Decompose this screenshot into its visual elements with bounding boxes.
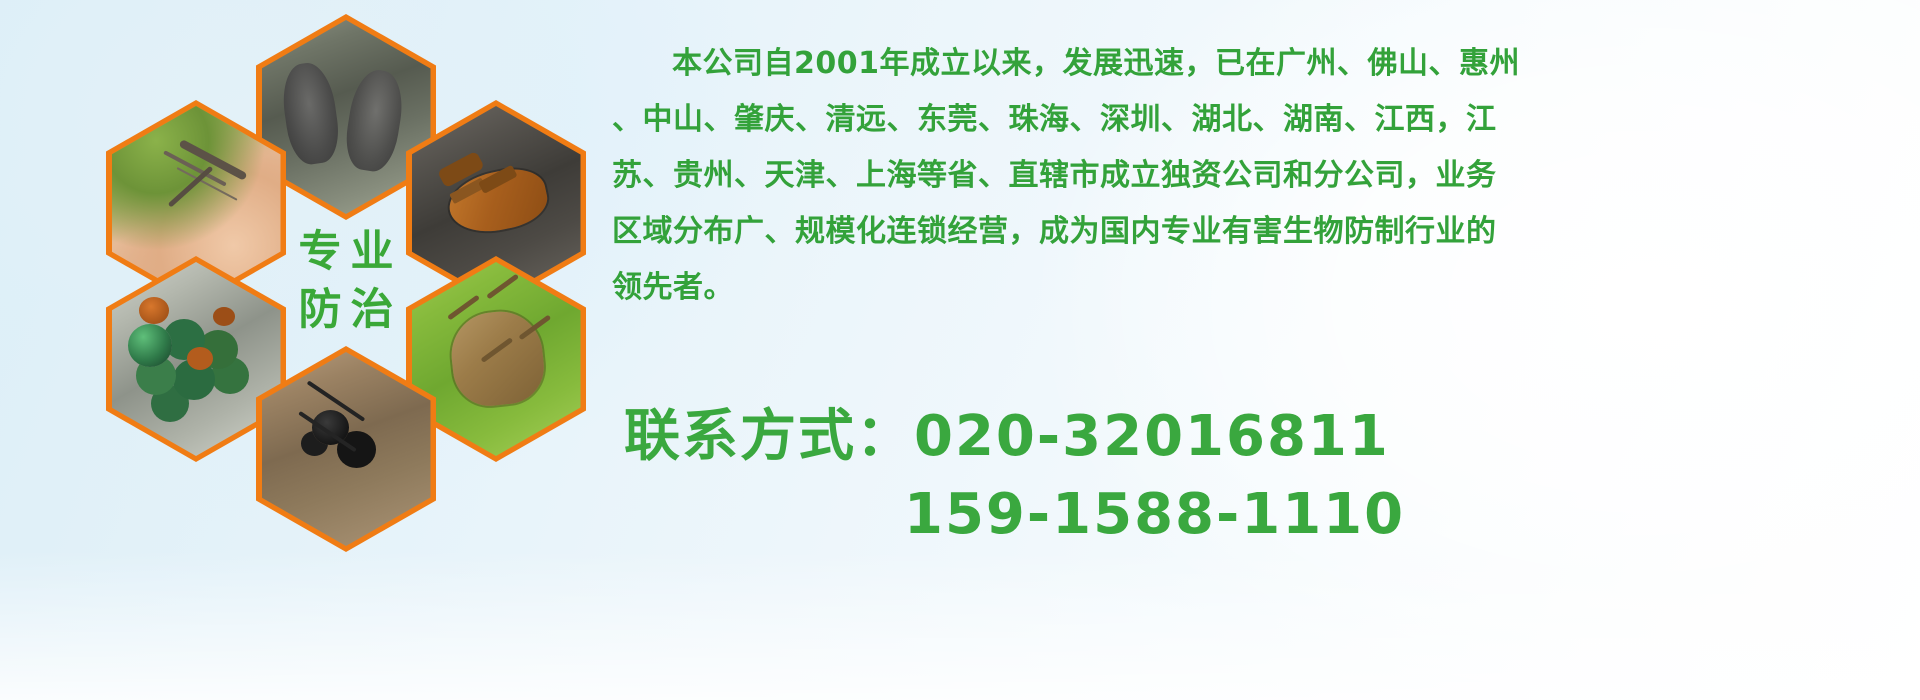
intro-line-2: 、中山、肇庆、清远、东莞、珠海、深圳、湖北、湖南、江西，江	[612, 92, 1907, 148]
intro-line-5: 领先者。	[612, 260, 1907, 316]
contact-phone-mobile[interactable]: 159-1588-1110	[612, 476, 1907, 554]
intro-line-1: 本公司自2001年成立以来，发展迅速，已在广州、佛山、惠州	[612, 36, 1907, 92]
hexagon-photo-cluster: 专业 防治	[88, 8, 588, 568]
intro-line-4: 区域分布广、规模化连锁经营，成为国内专业有害生物防制行业的	[612, 204, 1907, 260]
company-intro-paragraph: 本公司自2001年成立以来，发展迅速，已在广州、佛山、惠州 、中山、肇庆、清远、…	[612, 36, 1907, 316]
company-intro-banner: 专业 防治 本公司自2001年成立以来，发展迅速，已在广州、佛山、惠州 、中山、…	[0, 0, 1920, 700]
intro-line-3: 苏、贵州、天津、上海等省、直辖市成立独资公司和分公司，业务	[612, 148, 1907, 204]
logo-badge: 专业 防治	[256, 178, 436, 384]
logo-badge-line-2: 防治	[290, 281, 403, 339]
contact-block: 联系方式：020-32016811 159-1588-1110	[612, 398, 1907, 554]
logo-badge-line-1: 专业	[290, 223, 403, 281]
contact-phone-landline[interactable]: 联系方式：020-32016811	[612, 398, 1907, 476]
